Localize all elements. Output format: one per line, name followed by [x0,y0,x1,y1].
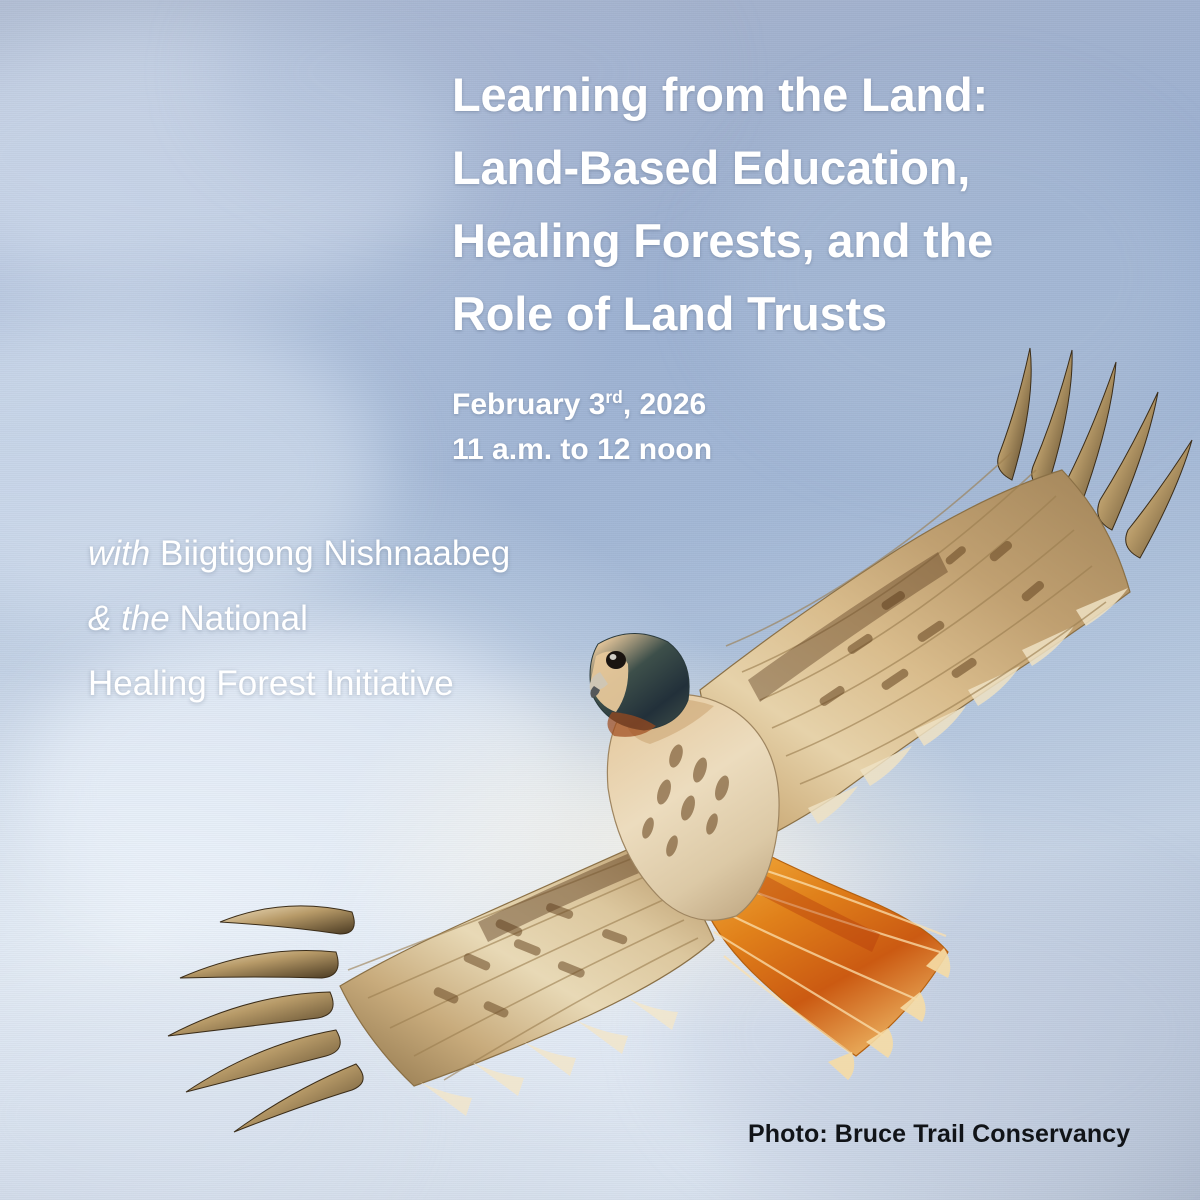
event-date-suffix: , 2026 [623,388,706,421]
partner-line-3: Healing Forest Initiative [88,651,510,716]
event-date-prefix: February 3 [452,388,605,421]
page-title: Learning from the Land: Land-Based Educa… [452,58,1112,350]
partner-line-2-rest: National [179,599,307,638]
event-time: 11 a.m. to 12 noon [452,427,712,472]
partner-line-2-italic: & the [88,599,179,638]
event-date-ordinal: rd [605,387,622,407]
poster-canvas: Learning from the Land: Land-Based Educa… [0,0,1200,1200]
partner-line-1-italic: with [88,534,160,573]
partner-line-2: & the National [88,586,510,651]
partner-line-1: with Biigtigong Nishnaabeg [88,521,510,586]
photo-credit: Photo: Bruce Trail Conservancy [748,1120,1130,1149]
partner-line-1-rest: Biigtigong Nishnaabeg [160,534,510,573]
partners-block: with Biigtigong Nishnaabeg & the Nationa… [88,521,510,716]
event-date-line: February 3rd, 2026 [452,388,706,421]
event-datetime: February 3rd, 2026 11 a.m. to 12 noon [452,382,712,472]
